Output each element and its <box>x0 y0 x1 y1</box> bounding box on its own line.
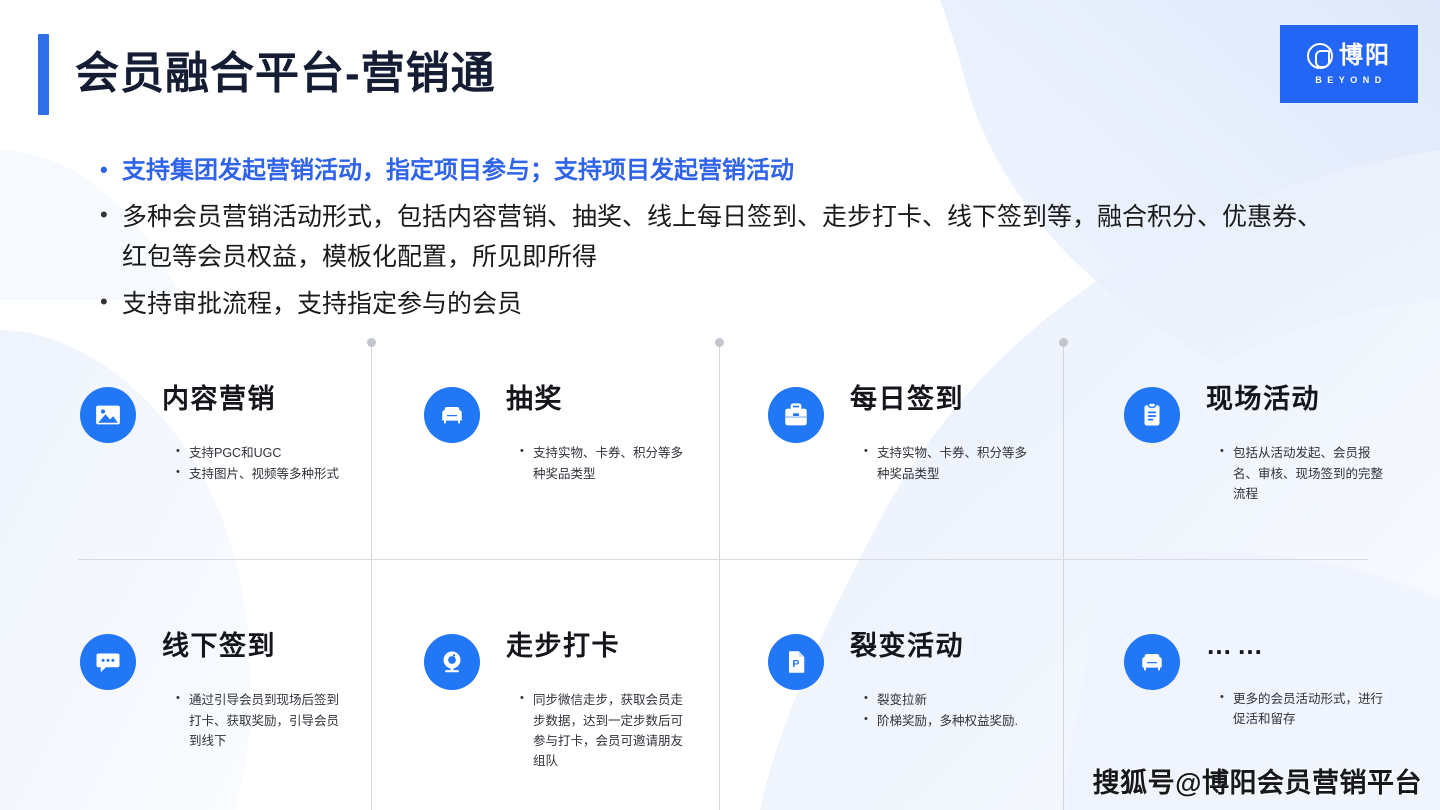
card-bullet-list: •同步微信走步，获取会员走步数据，达到一定步数后可参与打卡，会员可邀请朋友组队 <box>520 690 692 771</box>
card-bullet-list: •支持PGC和UGC •支持图片、视频等多种形式 <box>176 443 348 484</box>
card-bullet-text: 支持实物、卡券、积分等多种奖品类型 <box>877 443 1036 484</box>
card-bullet-text: 支持实物、卡券、积分等多种奖品类型 <box>533 443 692 484</box>
feature-card-fission-event[interactable]: P 裂变活动 •裂变拉新 •阶梯奖励，多种权益奖励. <box>768 628 1036 731</box>
page-title: 会员融合平台-营销通 <box>75 50 496 98</box>
slide-root: 会员融合平台-营销通 博阳 BEYOND • 支持集团发起营销活动，指定项目参与… <box>0 0 1440 810</box>
bullet-marker-icon: • <box>520 690 533 708</box>
feature-card-lottery[interactable]: 抽奖 •支持实物、卡券、积分等多种奖品类型 <box>424 381 692 484</box>
card-title: 裂变活动 <box>850 630 1036 662</box>
card-body: 裂变活动 •裂变拉新 •阶梯奖励，多种权益奖励. <box>850 628 1036 731</box>
card-bullet: •更多的会员活动形式，进行促活和留存 <box>1220 689 1392 730</box>
intro-bullet-text: 支持集团发起营销活动，指定项目参与；支持项目发起营销活动 <box>122 152 1340 191</box>
title-accent-bar <box>38 34 49 115</box>
card-bullet-list: •裂变拉新 •阶梯奖励，多种权益奖励. <box>864 690 1036 731</box>
card-bullet: •阶梯奖励，多种权益奖励. <box>864 711 1036 731</box>
card-bullet-text: 裂变拉新 <box>877 690 1036 710</box>
card-bullet: •裂变拉新 <box>864 690 1036 710</box>
card-body: 现场活动 •包括从活动发起、会员报名、审核、现场签到的完整流程 <box>1206 381 1392 504</box>
feature-card-more[interactable]: …… •更多的会员活动形式，进行促活和留存 <box>1124 628 1392 730</box>
bullet-marker-icon: • <box>1220 689 1233 707</box>
document-p-icon: P <box>768 634 824 690</box>
briefcase-icon <box>768 387 824 443</box>
clipboard-icon <box>1124 387 1180 443</box>
intro-bullet-list: • 支持集团发起营销活动，指定项目参与；支持项目发起营销活动 • 多种会员营销活… <box>100 152 1340 330</box>
image-icon <box>80 387 136 443</box>
feature-card-onsite-event[interactable]: 现场活动 •包括从活动发起、会员报名、审核、现场签到的完整流程 <box>1124 381 1392 504</box>
webcam-icon <box>424 634 480 690</box>
intro-bullet-0: • 支持集团发起营销活动，指定项目参与；支持项目发起营销活动 <box>100 152 1340 191</box>
chat-bubble-icon <box>80 634 136 690</box>
card-title: …… <box>1206 630 1392 661</box>
intro-bullet-1: • 多种会员营销活动形式，包括内容营销、抽奖、线上每日签到、走步打卡、线下签到等… <box>100 197 1340 278</box>
intro-bullet-text: 多种会员营销活动形式，包括内容营销、抽奖、线上每日签到、走步打卡、线下签到等，融… <box>122 197 1340 278</box>
card-body: …… •更多的会员活动形式，进行促活和留存 <box>1206 628 1392 730</box>
feature-card-daily-checkin[interactable]: 每日签到 •支持实物、卡券、积分等多种奖品类型 <box>768 381 1036 484</box>
bullet-marker-icon: • <box>864 443 877 461</box>
card-bullet-text: 阶梯奖励，多种权益奖励. <box>877 711 1036 731</box>
bullet-marker-icon: • <box>520 443 533 461</box>
bullet-marker-icon: • <box>1220 443 1233 461</box>
card-title: 抽奖 <box>506 383 692 415</box>
intro-bullet-text: 支持审批流程，支持指定参与的会员 <box>122 284 1340 325</box>
card-bullet-text: 包括从活动发起、会员报名、审核、现场签到的完整流程 <box>1233 443 1392 504</box>
card-bullet: •同步微信走步，获取会员走步数据，达到一定步数后可参与打卡，会员可邀请朋友组队 <box>520 690 692 771</box>
intro-bullet-2: • 支持审批流程，支持指定参与的会员 <box>100 284 1340 325</box>
card-bullet-text: 支持PGC和UGC <box>189 443 348 463</box>
page-header: 会员融合平台-营销通 <box>38 34 496 115</box>
card-bullet-list: •通过引导会员到现场后签到打卡、获取奖励，引导会员到线下 <box>176 690 348 751</box>
logo-row: 博阳 <box>1307 43 1391 69</box>
card-body: 线下签到 •通过引导会员到现场后签到打卡、获取奖励，引导会员到线下 <box>162 628 348 751</box>
feature-card-grid: 内容营销 •支持PGC和UGC •支持图片、视频等多种形式 抽奖 <box>0 0 1440 810</box>
svg-text:P: P <box>792 658 799 670</box>
feature-card-content-marketing[interactable]: 内容营销 •支持PGC和UGC •支持图片、视频等多种形式 <box>80 381 348 484</box>
bullet-marker-icon: • <box>100 284 122 320</box>
card-bullet-text: 更多的会员活动形式，进行促活和留存 <box>1233 689 1392 730</box>
card-bullet-list: •支持实物、卡券、积分等多种奖品类型 <box>520 443 692 484</box>
bullet-marker-icon: • <box>864 690 877 708</box>
feature-card-offline-checkin[interactable]: 线下签到 •通过引导会员到现场后签到打卡、获取奖励，引导会员到线下 <box>80 628 348 751</box>
card-bullet: •支持实物、卡券、积分等多种奖品类型 <box>520 443 692 484</box>
card-bullet-list: •包括从活动发起、会员报名、审核、现场签到的完整流程 <box>1220 443 1392 504</box>
bullet-marker-icon: • <box>100 152 122 188</box>
card-body: 内容营销 •支持PGC和UGC •支持图片、视频等多种形式 <box>162 381 348 484</box>
bullet-marker-icon: • <box>176 443 189 461</box>
card-bullet: •通过引导会员到现场后签到打卡、获取奖励，引导会员到线下 <box>176 690 348 751</box>
card-bullet-text: 支持图片、视频等多种形式 <box>189 464 348 484</box>
card-bullet-list: •更多的会员活动形式，进行促活和留存 <box>1220 689 1392 730</box>
card-title: 走步打卡 <box>506 630 692 662</box>
card-title: 线下签到 <box>162 630 348 662</box>
card-bullet: •支持图片、视频等多种形式 <box>176 464 348 484</box>
logo-cn-text: 博阳 <box>1339 44 1391 68</box>
brand-logo: 博阳 BEYOND <box>1280 25 1418 103</box>
card-bullet-list: •支持实物、卡券、积分等多种奖品类型 <box>864 443 1036 484</box>
card-bullet: •支持PGC和UGC <box>176 443 348 463</box>
logo-en-text: BEYOND <box>1315 75 1387 85</box>
card-bullet-text: 同步微信走步，获取会员走步数据，达到一定步数后可参与打卡，会员可邀请朋友组队 <box>533 690 692 771</box>
armchair-icon <box>424 387 480 443</box>
armchair-icon <box>1124 634 1180 690</box>
card-bullet: •包括从活动发起、会员报名、审核、现场签到的完整流程 <box>1220 443 1392 504</box>
card-title: 内容营销 <box>162 383 348 415</box>
bullet-marker-icon: • <box>864 711 877 729</box>
card-body: 每日签到 •支持实物、卡券、积分等多种奖品类型 <box>850 381 1036 484</box>
circle-b-icon <box>1307 43 1333 69</box>
bullet-marker-icon: • <box>176 464 189 482</box>
card-body: 走步打卡 •同步微信走步，获取会员走步数据，达到一定步数后可参与打卡，会员可邀请… <box>506 628 692 771</box>
card-bullet-text: 通过引导会员到现场后签到打卡、获取奖励，引导会员到线下 <box>189 690 348 751</box>
card-bullet: •支持实物、卡券、积分等多种奖品类型 <box>864 443 1036 484</box>
card-body: 抽奖 •支持实物、卡券、积分等多种奖品类型 <box>506 381 692 484</box>
feature-card-step-checkin[interactable]: 走步打卡 •同步微信走步，获取会员走步数据，达到一定步数后可参与打卡，会员可邀请… <box>424 628 692 771</box>
card-title: 每日签到 <box>850 383 1036 415</box>
bullet-marker-icon: • <box>176 690 189 708</box>
watermark-text: 搜狐号@博阳会员营销平台 <box>1093 761 1422 800</box>
bullet-marker-icon: • <box>100 197 122 233</box>
card-title: 现场活动 <box>1206 383 1392 415</box>
